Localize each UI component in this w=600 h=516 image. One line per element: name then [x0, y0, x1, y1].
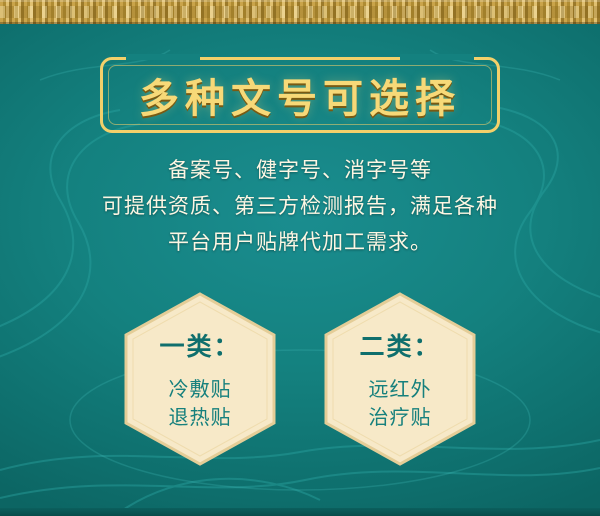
- hexagon-1-heading: 一类：: [159, 327, 240, 363]
- bottom-border: [0, 508, 600, 516]
- poster-root: 多种文号可选择 备案号、健字号、消字号等 可提供资质、第三方检测报告，满足各种 …: [0, 0, 600, 516]
- description-line-3: 平台用户贴牌代加工需求。: [30, 224, 570, 260]
- hexagon-1-line-1: 冷敷贴: [169, 375, 232, 403]
- category-hexagon-group: 一类： 冷敷贴 退热贴 二类： 远红外 治疗贴: [0, 290, 600, 470]
- hexagon-category-1: 一类： 冷敷贴 退热贴: [120, 290, 280, 468]
- hexagon-2-line-2: 治疗贴: [369, 403, 432, 431]
- top-ornamental-border: [0, 0, 600, 24]
- hexagon-2-line-1: 远红外: [369, 375, 432, 403]
- hexagon-2-label: 二类： 远红外 治疗贴: [320, 290, 480, 468]
- hexagon-category-2: 二类： 远红外 治疗贴: [320, 290, 480, 468]
- page-title: 多种文号可选择: [100, 57, 500, 133]
- description-line-1: 备案号、健字号、消字号等: [30, 152, 570, 188]
- hexagon-1-label: 一类： 冷敷贴 退热贴: [120, 290, 280, 468]
- title-plaque: 多种文号可选择: [100, 57, 500, 133]
- hexagon-1-line-2: 退热贴: [169, 403, 232, 431]
- description-line-2: 可提供资质、第三方检测报告，满足各种: [30, 188, 570, 224]
- description-paragraph: 备案号、健字号、消字号等 可提供资质、第三方检测报告，满足各种 平台用户贴牌代加…: [30, 152, 570, 260]
- hexagon-2-heading: 二类：: [359, 327, 440, 363]
